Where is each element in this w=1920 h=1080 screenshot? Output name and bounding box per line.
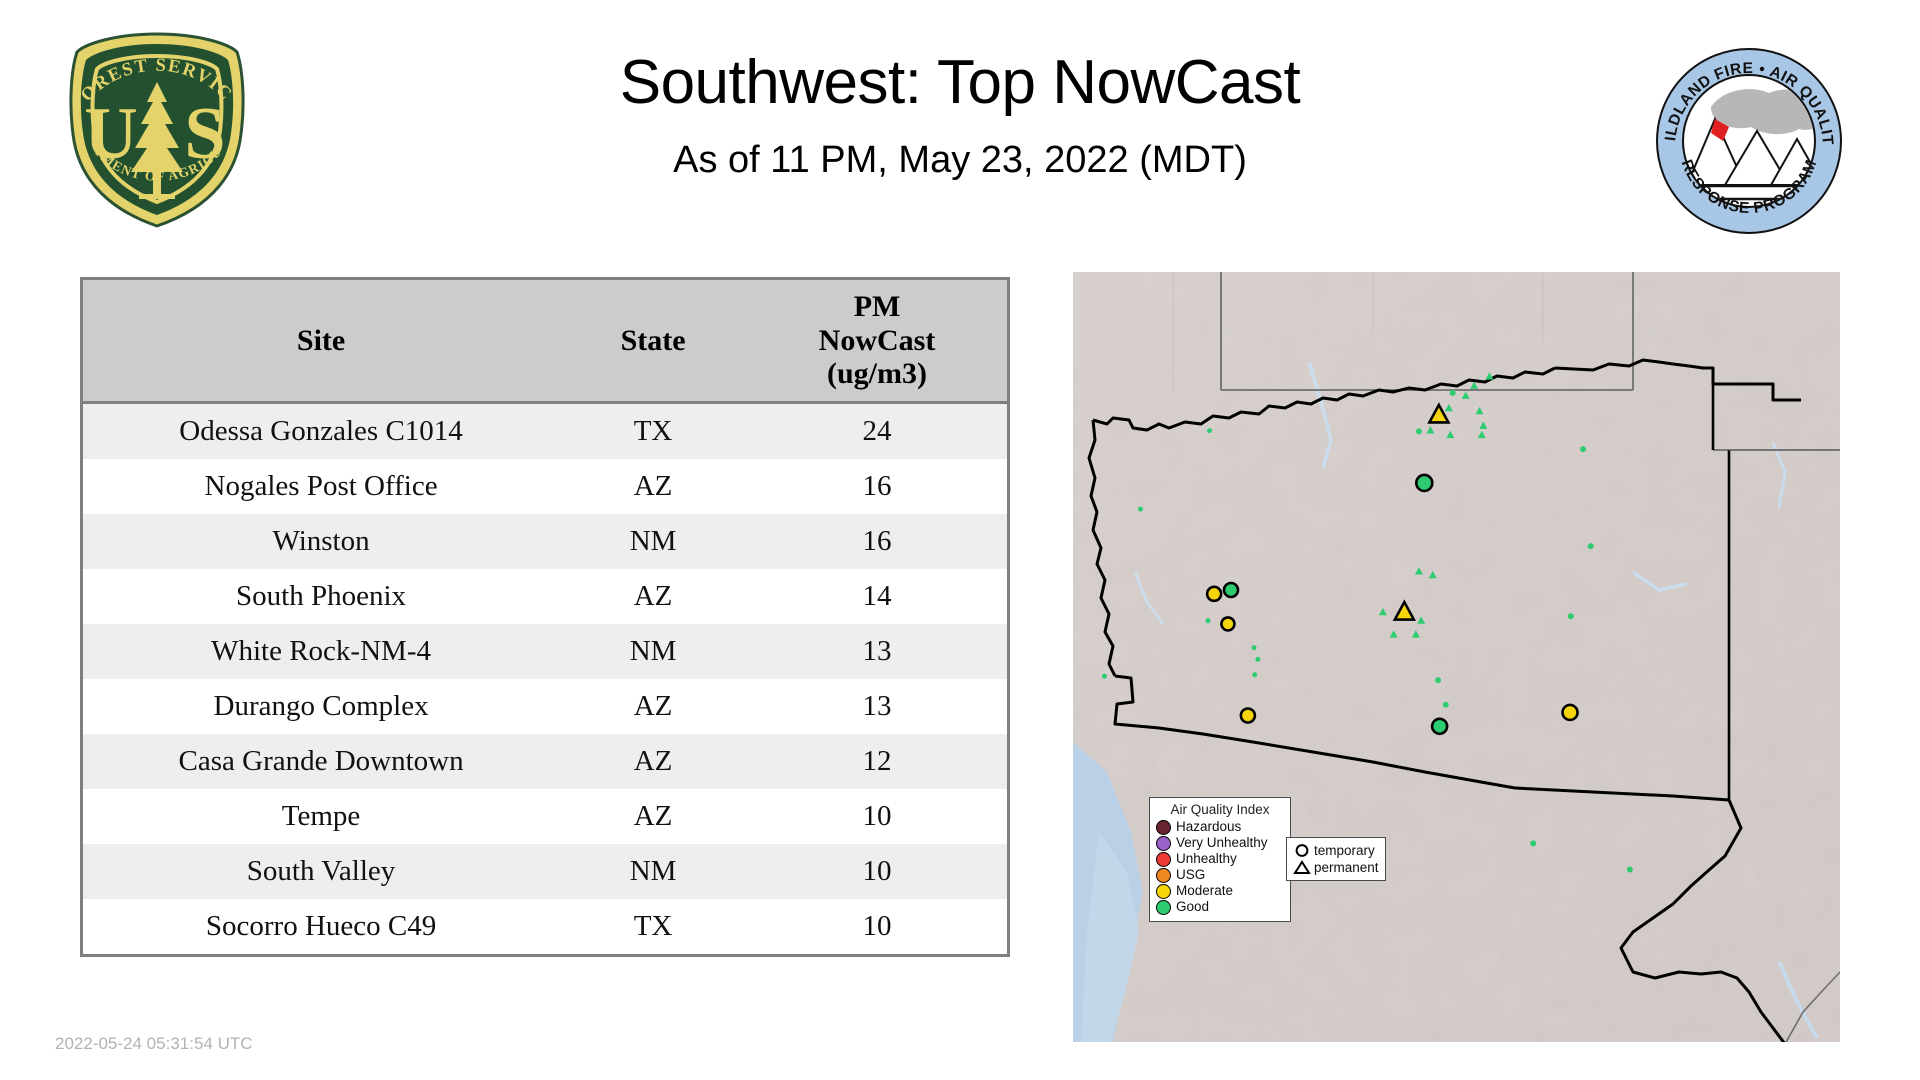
table-row: Casa Grande DowntownAZ12 [83,734,1007,789]
station-marker-circle[interactable] [1563,705,1578,720]
pm-cell: 16 [747,514,1007,569]
station-marker-circle[interactable] [1205,618,1210,623]
station-marker-circle[interactable] [1432,719,1447,734]
station-marker-circle[interactable] [1530,840,1536,846]
site-cell: Socorro Hueco C49 [83,899,559,954]
site-cell: Nogales Post Office [83,459,559,514]
legend-row-temporary: temporary [1293,842,1379,859]
state-cell: AZ [559,734,747,789]
pm-header-line-1: PM [751,290,1003,324]
pm-header-line-2: NowCast [751,324,1003,358]
pm-cell: 12 [747,734,1007,789]
site-cell: South Valley [83,844,559,899]
state-cell: AZ [559,459,747,514]
station-marker-circle[interactable] [1588,543,1594,549]
page-header: U S FOREST SERVICE DEPARTMENT OF AGRICUL… [0,0,1920,265]
station-marker-circle[interactable] [1416,428,1422,434]
aqi-legend-label: Good [1176,900,1209,914]
site-cell: South Phoenix [83,569,559,624]
circle-icon [1293,843,1311,858]
pm-cell: 24 [747,402,1007,459]
site-cell: Odessa Gonzales C1014 [83,402,559,459]
state-cell: AZ [559,679,747,734]
triangle-icon [1293,860,1311,875]
column-header-site: Site [83,280,559,402]
station-marker-circle[interactable] [1450,390,1456,396]
station-type-legend: temporary permanent [1286,837,1386,881]
aqi-legend-row: Moderate [1156,883,1284,899]
title-block: Southwest: Top NowCast As of 11 PM, May … [300,50,1620,182]
site-cell: Tempe [83,789,559,844]
aqi-color-swatch-icon [1156,820,1171,835]
station-marker-circle[interactable] [1241,709,1255,723]
pm-header-line-3: (ug/m3) [751,357,1003,391]
station-marker-circle[interactable] [1252,672,1257,677]
state-cell: AZ [559,569,747,624]
nowcast-table: Site State PM NowCast (ug/m3) Odessa Gon… [80,277,1010,957]
station-marker-circle[interactable] [1627,867,1633,873]
station-marker-circle[interactable] [1138,507,1143,512]
station-marker-circle[interactable] [1207,428,1212,433]
station-marker-circle[interactable] [1207,587,1221,601]
us-forest-service-logo: U S FOREST SERVICE DEPARTMENT OF AGRICUL… [55,30,260,230]
aqi-legend-label: Very Unhealthy [1176,836,1268,850]
station-marker-circle[interactable] [1416,475,1432,491]
state-cell: TX [559,899,747,954]
pm-cell: 16 [747,459,1007,514]
station-marker-circle[interactable] [1580,446,1586,452]
aqi-legend-title: Air Quality Index [1156,802,1284,817]
page-subtitle: As of 11 PM, May 23, 2022 (MDT) [300,139,1620,182]
station-marker-circle[interactable] [1568,613,1574,619]
pm-cell: 13 [747,679,1007,734]
aqi-legend-label: Moderate [1176,884,1233,898]
aqi-color-swatch-icon [1156,852,1171,867]
pm-cell: 14 [747,569,1007,624]
station-marker-circle[interactable] [1255,657,1260,662]
legend-label-permanent: permanent [1314,860,1379,875]
column-header-pm-nowcast: PM NowCast (ug/m3) [747,280,1007,402]
station-marker-circle[interactable] [1224,583,1238,597]
table-row: South ValleyNM10 [83,844,1007,899]
table-row: Nogales Post OfficeAZ16 [83,459,1007,514]
site-cell: Winston [83,514,559,569]
state-cell: NM [559,514,747,569]
station-marker-circle[interactable] [1252,645,1257,650]
aqi-color-swatch-icon [1156,868,1171,883]
aqi-legend-label: Unhealthy [1176,852,1237,866]
wildland-fire-air-quality-logo: WILDLAND FIRE • AIR QUALITY RESPONSE PRO… [1653,45,1845,237]
aqi-color-swatch-icon [1156,836,1171,851]
table-row: South PhoenixAZ14 [83,569,1007,624]
station-marker-circle[interactable] [1435,677,1441,683]
station-marker-circle[interactable] [1221,617,1234,630]
table-header-row: Site State PM NowCast (ug/m3) [83,280,1007,402]
table-row: White Rock-NM-4NM13 [83,624,1007,679]
state-cell: AZ [559,789,747,844]
table-row: Socorro Hueco C49TX10 [83,899,1007,954]
map-basemap [1073,272,1840,1042]
air-quality-map[interactable]: Air Quality Index HazardousVery Unhealth… [1073,272,1840,1042]
site-cell: White Rock-NM-4 [83,624,559,679]
pm-cell: 13 [747,624,1007,679]
pm-cell: 10 [747,789,1007,844]
pm-cell: 10 [747,899,1007,954]
aqi-color-swatch-icon [1156,884,1171,899]
station-marker-circle[interactable] [1102,674,1107,679]
site-cell: Casa Grande Downtown [83,734,559,789]
legend-row-permanent: permanent [1293,859,1379,876]
aqi-legend-row: USG [1156,867,1284,883]
aqi-color-swatch-icon [1156,900,1171,915]
legend-label-temporary: temporary [1314,843,1375,858]
page-title: Southwest: Top NowCast [300,50,1620,115]
aqi-legend-row: Very Unhealthy [1156,835,1284,851]
aqi-legend-label: Hazardous [1176,820,1241,834]
aqi-legend-row: Hazardous [1156,819,1284,835]
state-cell: NM [559,844,747,899]
site-cell: Durango Complex [83,679,559,734]
generation-timestamp: 2022-05-24 05:31:54 UTC [55,1034,253,1054]
column-header-state: State [559,280,747,402]
table-row: Odessa Gonzales C1014TX24 [83,402,1007,459]
station-marker-circle[interactable] [1443,702,1449,708]
table-body: Odessa Gonzales C1014TX24Nogales Post Of… [83,402,1007,954]
state-cell: TX [559,402,747,459]
table-row: WinstonNM16 [83,514,1007,569]
state-cell: NM [559,624,747,679]
aqi-legend-row: Good [1156,899,1284,915]
table-row: TempeAZ10 [83,789,1007,844]
table-row: Durango ComplexAZ13 [83,679,1007,734]
aqi-legend: Air Quality Index HazardousVery Unhealth… [1149,797,1291,922]
aqi-legend-label: USG [1176,868,1205,882]
aqi-legend-row: Unhealthy [1156,851,1284,867]
pm-cell: 10 [747,844,1007,899]
